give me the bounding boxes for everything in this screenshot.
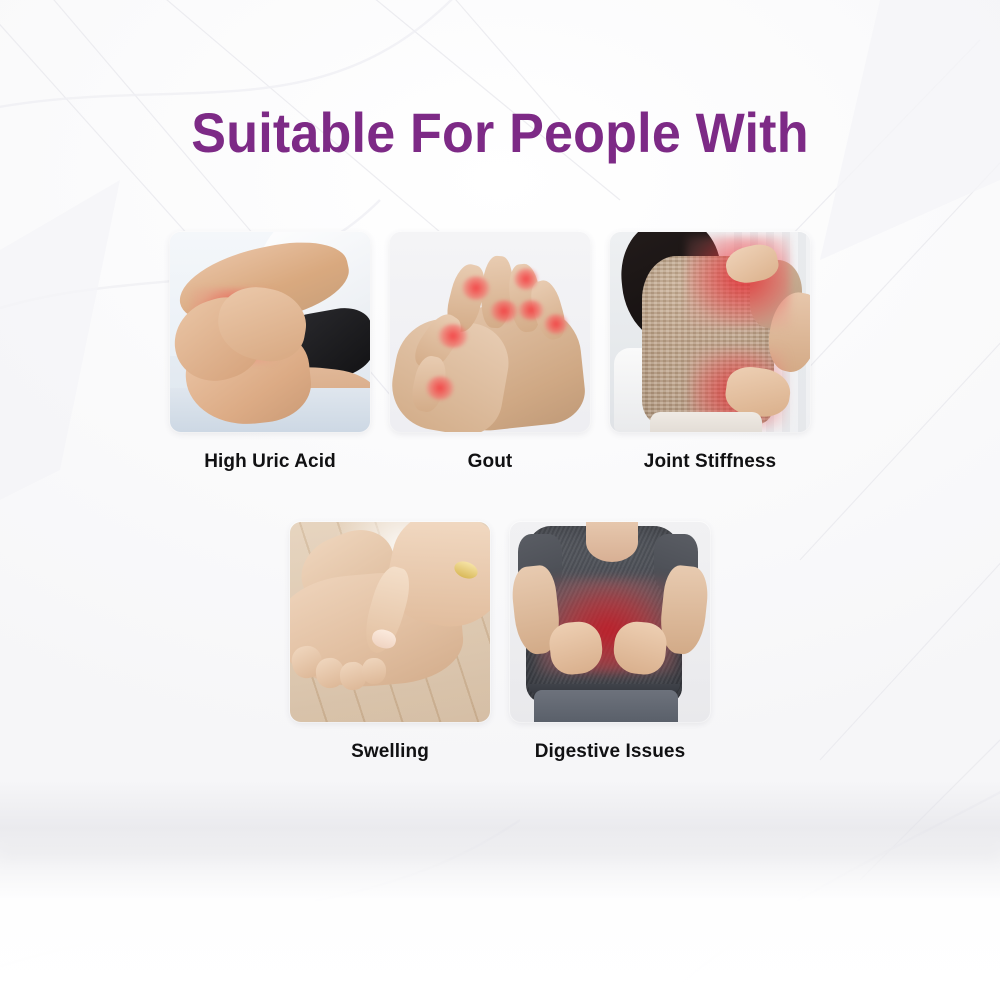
condition-image-digestive-issues <box>510 522 710 722</box>
condition-label: High Uric Acid <box>170 451 370 473</box>
condition-label: Gout <box>390 451 590 473</box>
condition-image-swelling <box>290 522 490 722</box>
illustration-hand-joints <box>390 232 590 432</box>
card-row-2: Swelling Digestive Issues <box>290 522 710 763</box>
condition-card-gout[interactable]: Gout <box>390 232 590 473</box>
illustration-foot-pain <box>170 232 370 432</box>
condition-card-joint-stiffness[interactable]: Joint Stiffness <box>610 232 810 473</box>
illustration-swollen-foot <box>290 522 490 722</box>
background-bottom-glow <box>0 780 1000 1000</box>
condition-card-high-uric-acid[interactable]: High Uric Acid <box>170 232 370 473</box>
condition-card-digestive-issues[interactable]: Digestive Issues <box>510 522 710 763</box>
condition-image-high-uric-acid <box>170 232 370 432</box>
condition-image-gout <box>390 232 590 432</box>
condition-image-joint-stiffness <box>610 232 810 432</box>
poster-canvas: Suitable For People With High Uric Acid <box>0 0 1000 1000</box>
page-title: Suitable For People With <box>35 102 965 164</box>
condition-card-swelling[interactable]: Swelling <box>290 522 490 763</box>
condition-label: Swelling <box>290 741 490 763</box>
condition-label: Digestive Issues <box>510 741 710 763</box>
card-row-1: High Uric Acid Gout <box>170 232 810 473</box>
illustration-back-pain <box>610 232 810 432</box>
condition-label: Joint Stiffness <box>610 451 810 473</box>
illustration-stomach-pain <box>510 522 710 722</box>
